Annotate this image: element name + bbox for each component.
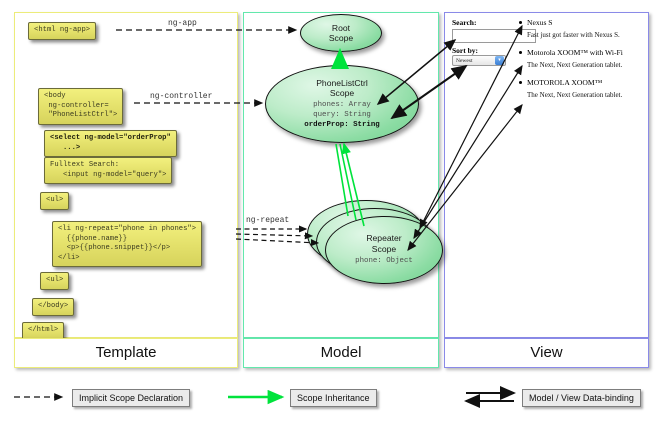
- code-box-html-tag: <html ng-app>: [28, 22, 96, 40]
- phone-snippet: Fast just got faster with Nexus S.: [518, 31, 642, 39]
- column-label-view: View: [444, 338, 649, 368]
- phone-snippet: The Next, Next Generation tablet.: [518, 61, 642, 69]
- legend-scope-inheritance: Scope Inheritance: [290, 389, 377, 407]
- code-box-ul-close-tag: <ul>: [40, 272, 69, 290]
- phonelistctrl-orderprop: orderProp: String: [304, 121, 379, 129]
- phone-name: Nexus S: [518, 18, 642, 27]
- phone-snippet: The Next, Next Generation tablet.: [518, 91, 642, 99]
- scope-ellipse-repeater: Repeater Scope phone: Object: [325, 216, 443, 284]
- repeater-scope-title: Repeater Scope: [366, 233, 401, 254]
- code-box-ul-open-tag: <ul>: [40, 192, 69, 210]
- code-box-li-repeat-tag: <li ng-repeat="phone in phones"> {{phone…: [52, 221, 202, 267]
- list-item: MOTOROLA XOOM™ The Next, Next Generation…: [518, 78, 642, 99]
- phone-name: Motorola XOOM™ with Wi-Fi: [518, 48, 642, 57]
- view-sort-selected-value: Newest: [456, 58, 473, 64]
- legend-data-binding: Model / View Data-binding: [522, 389, 641, 407]
- edge-label-ng-app: ng-app: [168, 19, 197, 28]
- model-panel: [243, 12, 439, 338]
- phone-name: MOTOROLA XOOM™: [518, 78, 642, 87]
- code-box-body-tag: <body ng-controller= "PhoneListCtrl">: [38, 88, 123, 125]
- view-phone-list: Nexus S Fast just got faster with Nexus …: [518, 18, 642, 108]
- legend-implicit-scope-declaration: Implicit Scope Declaration: [72, 389, 190, 407]
- code-box-search-input-tag: Fulltext Search: <input ng-model="query"…: [44, 157, 172, 184]
- column-label-model: Model: [243, 338, 439, 368]
- phonelistctrl-scope-props: phones: Array query: String orderProp: S…: [304, 101, 379, 130]
- column-label-template: Template: [14, 338, 238, 368]
- list-item: Motorola XOOM™ with Wi-Fi The Next, Next…: [518, 48, 642, 69]
- phonelistctrl-scope-title: PhoneListCtrl Scope: [316, 78, 368, 99]
- view-content: Search: Sort by: Newest ▾ Nexus S Fast j…: [452, 18, 642, 66]
- repeater-scope-props: phone: Object: [355, 257, 413, 267]
- code-box-select-tag: <select ng-model="orderProp" ...>: [44, 130, 177, 157]
- chevron-down-icon: ▾: [495, 56, 504, 65]
- root-scope-title: Root Scope: [329, 23, 353, 44]
- edge-label-ng-repeat: ng-repeat: [246, 216, 289, 225]
- edge-label-ng-controller: ng-controller: [150, 92, 212, 101]
- code-box-html-close-tag: </html>: [22, 322, 64, 340]
- list-item: Nexus S Fast just got faster with Nexus …: [518, 18, 642, 39]
- scope-ellipse-root: Root Scope: [300, 14, 382, 52]
- code-box-body-close-tag: </body>: [32, 298, 74, 316]
- view-sort-select[interactable]: Newest ▾: [452, 55, 506, 66]
- scope-ellipse-phonelistctrl: PhoneListCtrl Scope phones: Array query:…: [265, 65, 419, 143]
